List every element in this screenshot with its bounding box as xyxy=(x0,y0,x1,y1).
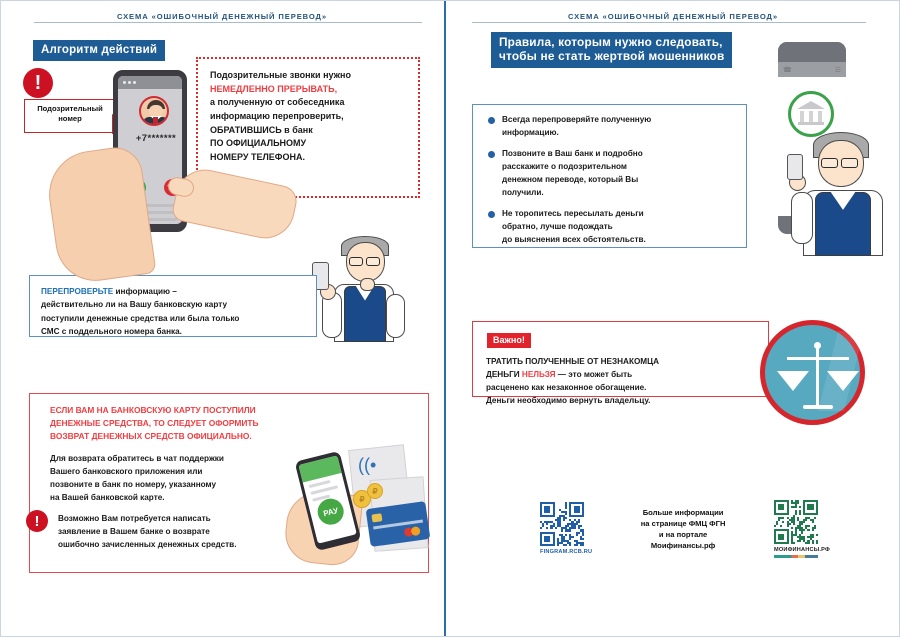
refund-paragraph-2: Возможно Вам потребуется написать заявле… xyxy=(58,512,308,551)
important-l1: ТРАТИТЬ ПОЛУЧЕННЫЕ ОТ НЕЗНАКОМЦА xyxy=(486,355,761,368)
hangup-line-4: информацию перепроверить, xyxy=(210,110,406,124)
exclamation-warning-icon-2: ! xyxy=(26,510,48,532)
left-section-ribbon: Алгоритм действий xyxy=(33,40,165,61)
recheck-line-4: СМС с поддельного номера банка. xyxy=(41,325,305,338)
left-header-rule xyxy=(34,22,422,23)
recheck-info-box: ПЕРЕПРОВЕРЬТЕ информацию – действительно… xyxy=(29,275,317,337)
list-item: Всегда перепроверяйте полученную информа… xyxy=(488,114,738,139)
hangup-line-1: Подозрительные звонки нужно xyxy=(210,69,406,83)
recheck-line-3: поступили денежные средства или была тол… xyxy=(41,312,305,325)
justice-scales-icon xyxy=(760,320,865,425)
right-section-ribbon: Правила, которым нужно следовать, чтобы … xyxy=(491,32,732,68)
qr-caption-l4: Моифинансы.рф xyxy=(606,540,760,551)
right-header-title: СХЕМА «ОШИБОЧНЫЙ ДЕНЕЖНЫЙ ПЕРЕВОД» xyxy=(446,12,900,21)
bank-building-icon xyxy=(797,101,825,125)
qr-color-bar xyxy=(774,555,818,558)
bullet-1-l1: Всегда перепроверяйте полученную xyxy=(502,114,651,127)
contactless-nfc-icon: ((• xyxy=(358,455,376,476)
bullet-2-l2: расскажите о подозрительном xyxy=(502,161,643,174)
right-ribbon-line-1: Правила, которым нужно следовать, xyxy=(499,35,724,49)
refund-title-3: ВОЗВРАТ ДЕНЕЖНЫХ СРЕДСТВ ОФИЦИАЛЬНО. xyxy=(50,430,340,443)
refund-p1-l1: Для возврата обратитесь в чат поддержки xyxy=(50,452,300,465)
bullet-2-l1: Позвоните в Ваш банк и подробно xyxy=(502,148,643,161)
hangup-line-6: ПО ОФИЦИАЛЬНОМУ xyxy=(210,137,406,151)
callout-line-2: номер xyxy=(58,114,82,123)
important-l2-b: — это может быть xyxy=(556,370,633,379)
man-calling-bank-illustration xyxy=(791,130,900,262)
qr-code-fingram[interactable] xyxy=(540,502,584,546)
suspicious-number-callout: Подозрительный номер xyxy=(24,99,116,133)
hangup-line-7: НОМЕРУ ТЕЛЕФОНА. xyxy=(210,151,406,165)
thinking-man-illustration xyxy=(300,228,418,348)
phone-appbar: ☎ ☰ xyxy=(778,62,846,77)
exclamation-warning-icon: ! xyxy=(23,68,53,98)
pay-badge: РАУ xyxy=(315,496,347,528)
bullet-2-l4: получили. xyxy=(502,187,643,200)
bullet-dot-icon xyxy=(488,117,495,124)
left-header-title: СХЕМА «ОШИБОЧНЫЙ ДЕНЕЖНЫЙ ПЕРЕВОД» xyxy=(0,12,444,21)
qr-caption-l3: и на портале xyxy=(606,529,760,540)
right-header-rule xyxy=(472,22,866,23)
rules-bullets-list: Всегда перепроверяйте полученную информа… xyxy=(488,114,738,255)
refund-p2-l1: Возможно Вам потребуется написать xyxy=(58,512,308,525)
important-l3: расценено как незаконное обогащение. xyxy=(486,381,761,394)
right-panel: СХЕМА «ОШИБОЧНЫЙ ДЕНЕЖНЫЙ ПЕРЕВОД» Прави… xyxy=(446,0,900,637)
hangup-line-3: а полученную от собеседника xyxy=(210,96,406,110)
bullet-3-l2: обратно, лучше подождать xyxy=(502,221,646,234)
qr-caption-l1: Больше информации xyxy=(606,507,760,518)
bullet-3-l3: до выяснения всех обстоятельств. xyxy=(502,234,646,247)
menu-icon: ☰ xyxy=(835,66,841,74)
coin-icon-2: ₽ xyxy=(367,483,383,499)
bullet-3-l1: Не торопитесь пересылать деньги xyxy=(502,208,646,221)
refund-title-2: ДЕНЕЖНЫЕ СРЕДСТВА, ТО СЛЕДУЕТ ОФОРМИТЬ xyxy=(50,417,340,430)
qr-footer: FINGRAM.RCB.RU Больше информации на стра… xyxy=(540,500,830,558)
important-l4: Деньги необходимо вернуть владельцу. xyxy=(486,394,761,407)
refund-p2-l2: заявление в Вашем банке о возврате xyxy=(58,525,308,538)
qr-block-right[interactable]: МОИФИНАНСЫ.РФ xyxy=(774,500,830,558)
hangup-line-2: НЕМЕДЛЕННО ПРЕРЫВАТЬ, xyxy=(210,83,406,97)
qr-left-label: FINGRAM.RCB.RU xyxy=(540,549,592,555)
recheck-lead: ПЕРЕПРОВЕРЬТЕ xyxy=(41,287,113,296)
right-ribbon-line-2: чтобы не стать жертвой мошенников xyxy=(499,49,724,63)
important-l2-a: ДЕНЬГИ xyxy=(486,370,522,379)
statusbar-dots-icon xyxy=(118,76,182,84)
right-header: СХЕМА «ОШИБОЧНЫЙ ДЕНЕЖНЫЙ ПЕРЕВОД» xyxy=(446,12,900,21)
refund-title-group: ЕСЛИ ВАМ НА БАНКОВСКУЮ КАРТУ ПОСТУПИЛИ Д… xyxy=(50,404,340,442)
list-item: Позвоните в Ваш банк и подробно расскажи… xyxy=(488,148,738,199)
left-panel: СХЕМА «ОШИБОЧНЫЙ ДЕНЕЖНЫЙ ПЕРЕВОД» Алгор… xyxy=(0,0,444,637)
infographic-page: СХЕМА «ОШИБОЧНЫЙ ДЕНЕЖНЫЙ ПЕРЕВОД» Алгор… xyxy=(0,0,900,637)
left-hand-illustration xyxy=(43,144,156,286)
qr-caption: Больше информации на странице ФМЦ ФГН и … xyxy=(606,507,760,551)
bullet-dot-icon xyxy=(488,211,495,218)
list-item: Не торопитесь пересылать деньги обратно,… xyxy=(488,208,738,246)
bullet-1-l2: информацию. xyxy=(502,127,651,140)
refund-p1-l4: на Вашей банковской карте. xyxy=(50,491,300,504)
bullet-2-l3: денежном переводе, который Вы xyxy=(502,174,643,187)
qr-right-label: МОИФИНАНСЫ.РФ xyxy=(774,547,830,553)
refund-paragraph-1: Для возврата обратитесь в чат поддержки … xyxy=(50,452,300,505)
phone-statusbar xyxy=(118,76,182,89)
qr-block-left[interactable]: FINGRAM.RCB.RU xyxy=(540,502,592,555)
qr-caption-l2: на странице ФМЦ ФГН xyxy=(606,518,760,529)
refund-title-1: ЕСЛИ ВАМ НА БАНКОВСКУЮ КАРТУ ПОСТУПИЛИ xyxy=(50,404,340,417)
hangup-line-5: ОБРАТИВШИСЬ в банк xyxy=(210,124,406,138)
recheck-line-2: действительно ли на Вашу банковскую карт… xyxy=(41,298,305,311)
important-l2: ДЕНЬГИ НЕЛЬЗЯ — это может быть xyxy=(486,368,761,381)
refund-p2-l3: ошибочно зачисленных денежных средств. xyxy=(58,538,308,551)
callout-line-1: Подозрительный xyxy=(37,104,103,113)
caller-avatar xyxy=(139,96,169,126)
caller-number: +7******* xyxy=(128,133,182,144)
bullet-dot-icon xyxy=(488,151,495,158)
phone-top-bezel xyxy=(778,42,846,62)
refund-p1-l3: позвоните в банк по номеру, указанному xyxy=(50,478,300,491)
important-tag: Важно! xyxy=(486,332,532,349)
recheck-lead-rest: информацию – xyxy=(113,287,177,296)
phone-icon: ☎ xyxy=(783,66,792,74)
important-content: Важно! ТРАТИТЬ ПОЛУЧЕННЫЕ ОТ НЕЗНАКОМЦА … xyxy=(486,330,761,408)
recheck-line-1: ПЕРЕПРОВЕРЬТЕ информацию – xyxy=(41,285,305,298)
refund-p1-l2: Вашего банковского приложения или xyxy=(50,465,300,478)
important-l2-red: НЕЛЬЗЯ xyxy=(522,370,556,379)
qr-code-moifinansy[interactable] xyxy=(774,500,818,544)
left-header: СХЕМА «ОШИБОЧНЫЙ ДЕНЕЖНЫЙ ПЕРЕВОД» xyxy=(0,12,444,21)
